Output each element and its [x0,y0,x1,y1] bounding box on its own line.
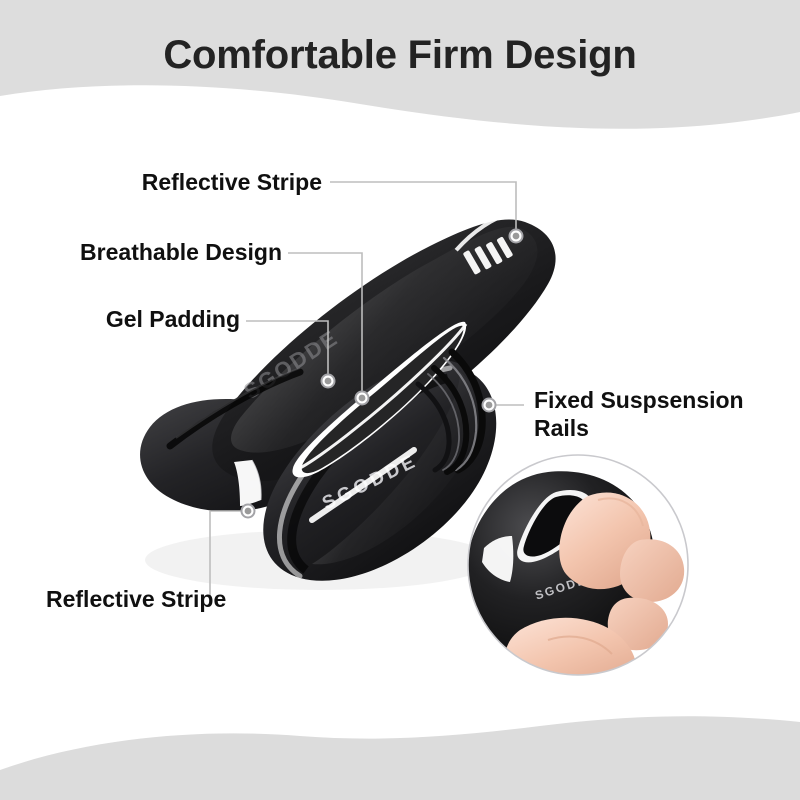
leader-reflective-stripe-top [330,182,516,234]
callout-label-breathable-design: Breathable Design [10,238,282,266]
callout-label-fixed-suspsension-rails: Fixed Suspsension Rails [534,386,792,442]
marker-dot-breathable-design [359,395,366,402]
marker-dot-reflective-stripe-top [513,233,520,240]
marker-dot-gel-padding [325,378,332,385]
callout-label-reflective-stripe-top: Reflective Stripe [60,168,322,196]
leader-reflective-stripe-bottom [210,511,246,596]
callout-label-gel-padding: Gel Padding [30,305,240,333]
product-infographic: Comfortable Firm Design [0,0,800,800]
callout-label-reflective-stripe-bottom: Reflective Stripe [46,585,296,613]
marker-dot-reflective-stripe-bottom [245,508,252,515]
leader-gel-padding [246,321,328,379]
marker-dot-fixed-rails [486,402,493,409]
